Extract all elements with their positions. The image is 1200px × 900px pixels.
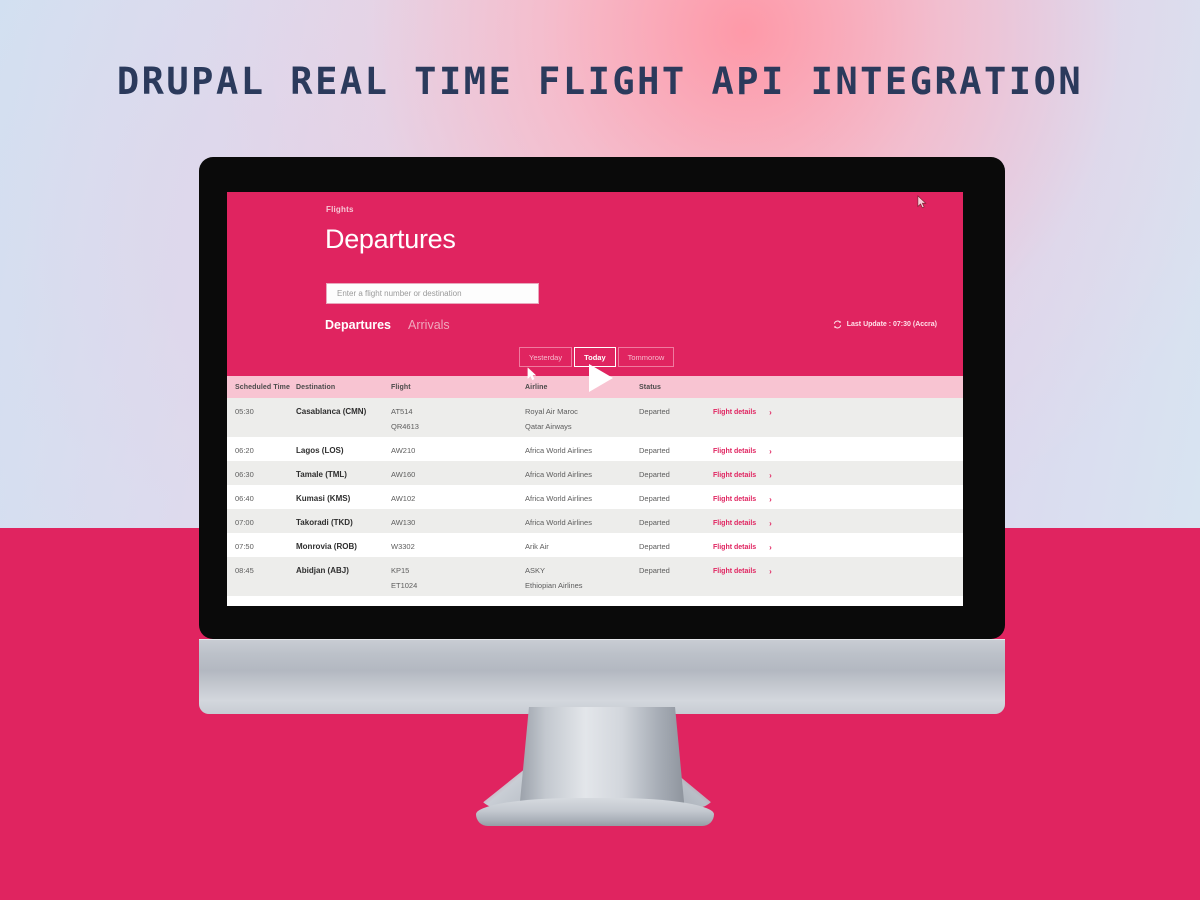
cell-details: Flight details› [713,533,818,552]
search-input[interactable] [326,283,539,304]
cell-scheduled-time: 06:30 [227,461,296,480]
cell-status: Departed [639,509,713,528]
cell-status: Departed [639,557,713,590]
cell-flight: AW130 [391,509,525,528]
cell-scheduled-time: 07:00 [227,509,296,528]
breadcrumb[interactable]: Flights [326,205,354,214]
cell-destination: Tamale (TML) [296,461,391,480]
poster-title: DRUPAL REAL TIME FLIGHT API INTEGRATION [0,60,1200,103]
table-row[interactable]: 06:20Lagos (LOS)AW210Africa World Airlin… [227,437,963,461]
cell-flight: AW102 [391,485,525,504]
monitor-screen: Flights Departures Departures Arrivals L… [227,192,963,606]
cell-destination: Kumasi (KMS) [296,485,391,504]
cell-details: Flight details› [713,398,818,431]
table-row[interactable]: 07:00Takoradi (TKD)AW130Africa World Air… [227,509,963,533]
cell-flight: W3302 [391,533,525,552]
cell-scheduled-time: 06:40 [227,485,296,504]
cell-details: Flight details› [713,509,818,528]
monitor-stand-base [476,798,714,826]
chevron-right-icon: › [769,519,772,528]
date-button-today[interactable]: Today [574,347,616,367]
table-row[interactable]: 05:30Casablanca (CMN)AT514QR4613Royal Ai… [227,398,963,437]
column-header-destination: Destination [296,384,391,391]
flight-table-body: 05:30Casablanca (CMN)AT514QR4613Royal Ai… [227,398,963,606]
table-row[interactable]: 09:00Kumasi (KMS)AW104Africa World Airli… [227,596,963,606]
column-header-scheduled-time: Scheduled Time [227,384,296,391]
monitor-chin [199,639,1005,714]
cell-status: Departed [639,596,713,606]
cell-details: Flight details› [713,437,818,456]
cell-airline: ASKYEthiopian Airlines [525,557,639,590]
flight-details-label: Flight details [713,448,756,455]
cell-details: Flight details› [713,461,818,480]
app-header: Flights Departures Departures Arrivals L… [227,192,963,374]
flight-details-label: Flight details [713,568,756,575]
page-title: Departures [325,224,456,255]
cell-destination: Kumasi (KMS) [296,596,391,606]
view-tabs: Departures Arrivals [325,318,450,332]
chevron-right-icon: › [769,567,772,576]
table-row[interactable]: 08:45Abidjan (ABJ)KP15ET1024ASKYEthiopia… [227,557,963,596]
date-button-yesterday[interactable]: Yesterday [519,347,572,367]
chevron-right-icon: › [769,471,772,480]
last-update-text: Last Update : 07:30 (Accra) [847,321,937,328]
column-header-airline: Airline [525,384,639,391]
date-button-tomorrow[interactable]: Tommorow [618,347,675,367]
chevron-right-icon: › [769,495,772,504]
cell-destination: Casablanca (CMN) [296,398,391,431]
tab-departures[interactable]: Departures [325,318,391,332]
cell-destination: Abidjan (ABJ) [296,557,391,590]
flight-details-link[interactable]: Flight details› [713,567,772,576]
cell-airline: Royal Air MarocQatar Airways [525,398,639,431]
cell-scheduled-time: 05:30 [227,398,296,431]
flight-table: Scheduled Time Destination Flight Airlin… [227,374,963,606]
cell-destination: Takoradi (TKD) [296,509,391,528]
flight-details-link[interactable]: Flight details› [713,495,772,504]
cell-scheduled-time: 07:50 [227,533,296,552]
column-header-flight: Flight [391,384,525,391]
cell-status: Departed [639,398,713,431]
flight-details-link[interactable]: Flight details› [713,471,772,480]
chevron-right-icon: › [769,543,772,552]
cell-airline: Africa World Airlines [525,485,639,504]
flight-details-label: Flight details [713,496,756,503]
table-header-row: Scheduled Time Destination Flight Airlin… [227,374,963,398]
cell-airline: Arik Air [525,533,639,552]
tab-arrivals[interactable]: Arrivals [408,318,450,332]
flight-details-label: Flight details [713,409,756,416]
cell-airline: Africa World Airlines [525,437,639,456]
last-update: Last Update : 07:30 (Accra) [833,320,937,329]
flight-details-label: Flight details [713,520,756,527]
flight-details-link[interactable]: Flight details› [713,519,772,528]
cell-status: Departed [639,533,713,552]
cell-destination: Monrovia (ROB) [296,533,391,552]
cell-airline: Africa World Airlines [525,461,639,480]
cell-details: Flight details› [713,485,818,504]
table-row[interactable]: 07:50Monrovia (ROB)W3302Arik AirDeparted… [227,533,963,557]
cell-flight: KP15ET1024 [391,557,525,590]
monitor-stand-neck [519,707,685,812]
cell-details: Flight details› [713,557,818,590]
cell-details: Flight details› [713,596,818,606]
cell-destination: Lagos (LOS) [296,437,391,456]
cell-flight: AW160 [391,461,525,480]
column-header-status: Status [639,384,713,391]
cell-flight: AT514QR4613 [391,398,525,431]
cell-airline: Africa World Airlines [525,509,639,528]
chevron-right-icon: › [769,408,772,417]
cell-flight: AW210 [391,437,525,456]
flight-details-link[interactable]: Flight details› [713,408,772,417]
flight-details-link[interactable]: Flight details› [713,447,772,456]
cell-flight: AW104 [391,596,525,606]
table-row[interactable]: 06:40Kumasi (KMS)AW102Africa World Airli… [227,485,963,509]
date-switcher: Yesterday Today Tommorow [519,347,676,367]
chevron-right-icon: › [769,447,772,456]
table-row[interactable]: 06:30Tamale (TML)AW160Africa World Airli… [227,461,963,485]
cell-scheduled-time: 09:00 [227,596,296,606]
cell-status: Departed [639,485,713,504]
cell-scheduled-time: 08:45 [227,557,296,590]
cell-status: Departed [639,461,713,480]
flight-details-label: Flight details [713,472,756,479]
cell-scheduled-time: 06:20 [227,437,296,456]
flight-details-label: Flight details [713,544,756,551]
refresh-icon[interactable] [833,320,842,329]
cell-status: Departed [639,437,713,456]
flight-details-link[interactable]: Flight details› [713,543,772,552]
cell-airline: Africa World Airlines [525,596,639,606]
